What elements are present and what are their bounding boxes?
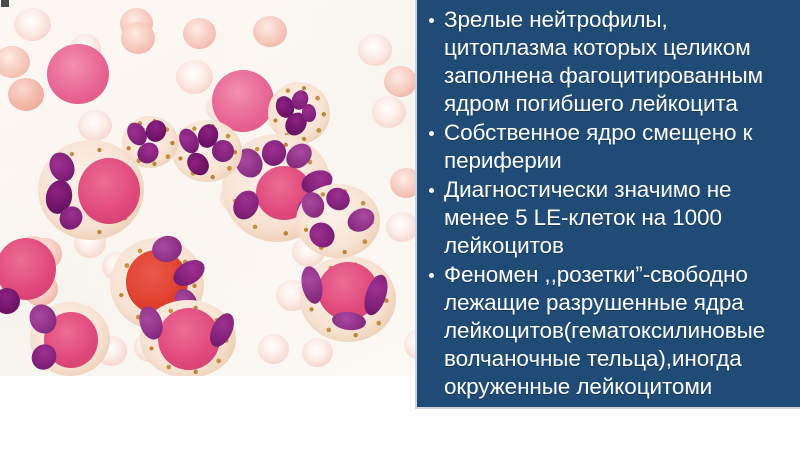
erythrocyte [176, 60, 213, 94]
bullet-item-1: Зрелые нейтрофилы, цитоплазма которых це… [425, 6, 794, 118]
erythrocyte [183, 18, 216, 49]
bullet-item-3: Диагностически значимо не менее 5 LE-кле… [425, 176, 794, 260]
erythrocyte [121, 22, 155, 54]
erythrocyte [390, 168, 416, 198]
phagocytosed-nucleus [78, 158, 140, 224]
erythrocyte [384, 66, 416, 97]
bullet-list: Зрелые нейтрофилы, цитоплазма которых це… [425, 6, 794, 401]
erythrocyte [258, 334, 289, 364]
slide: Зрелые нейтрофилы, цитоплазма которых це… [0, 0, 800, 450]
lymphocyte-nucleus [47, 44, 109, 104]
erythrocyte [358, 34, 392, 66]
erythrocyte [14, 8, 51, 41]
text-content-panel: Зрелые нейтрофилы, цитоплазма которых це… [415, 0, 800, 409]
blood-smear-micrograph [0, 0, 416, 376]
erythrocyte [8, 78, 44, 111]
erythrocyte [386, 212, 416, 242]
erythrocyte [78, 110, 112, 141]
bullet-item-2: Собственное ядро смещено к периферии [425, 119, 794, 175]
erythrocyte [302, 338, 333, 367]
erythrocyte [372, 96, 406, 128]
bullet-item-4: Феномен ,,розетки”-свободно лежащие разр… [425, 261, 794, 401]
erythrocyte [253, 16, 287, 47]
scan-artifact [1, 0, 9, 7]
